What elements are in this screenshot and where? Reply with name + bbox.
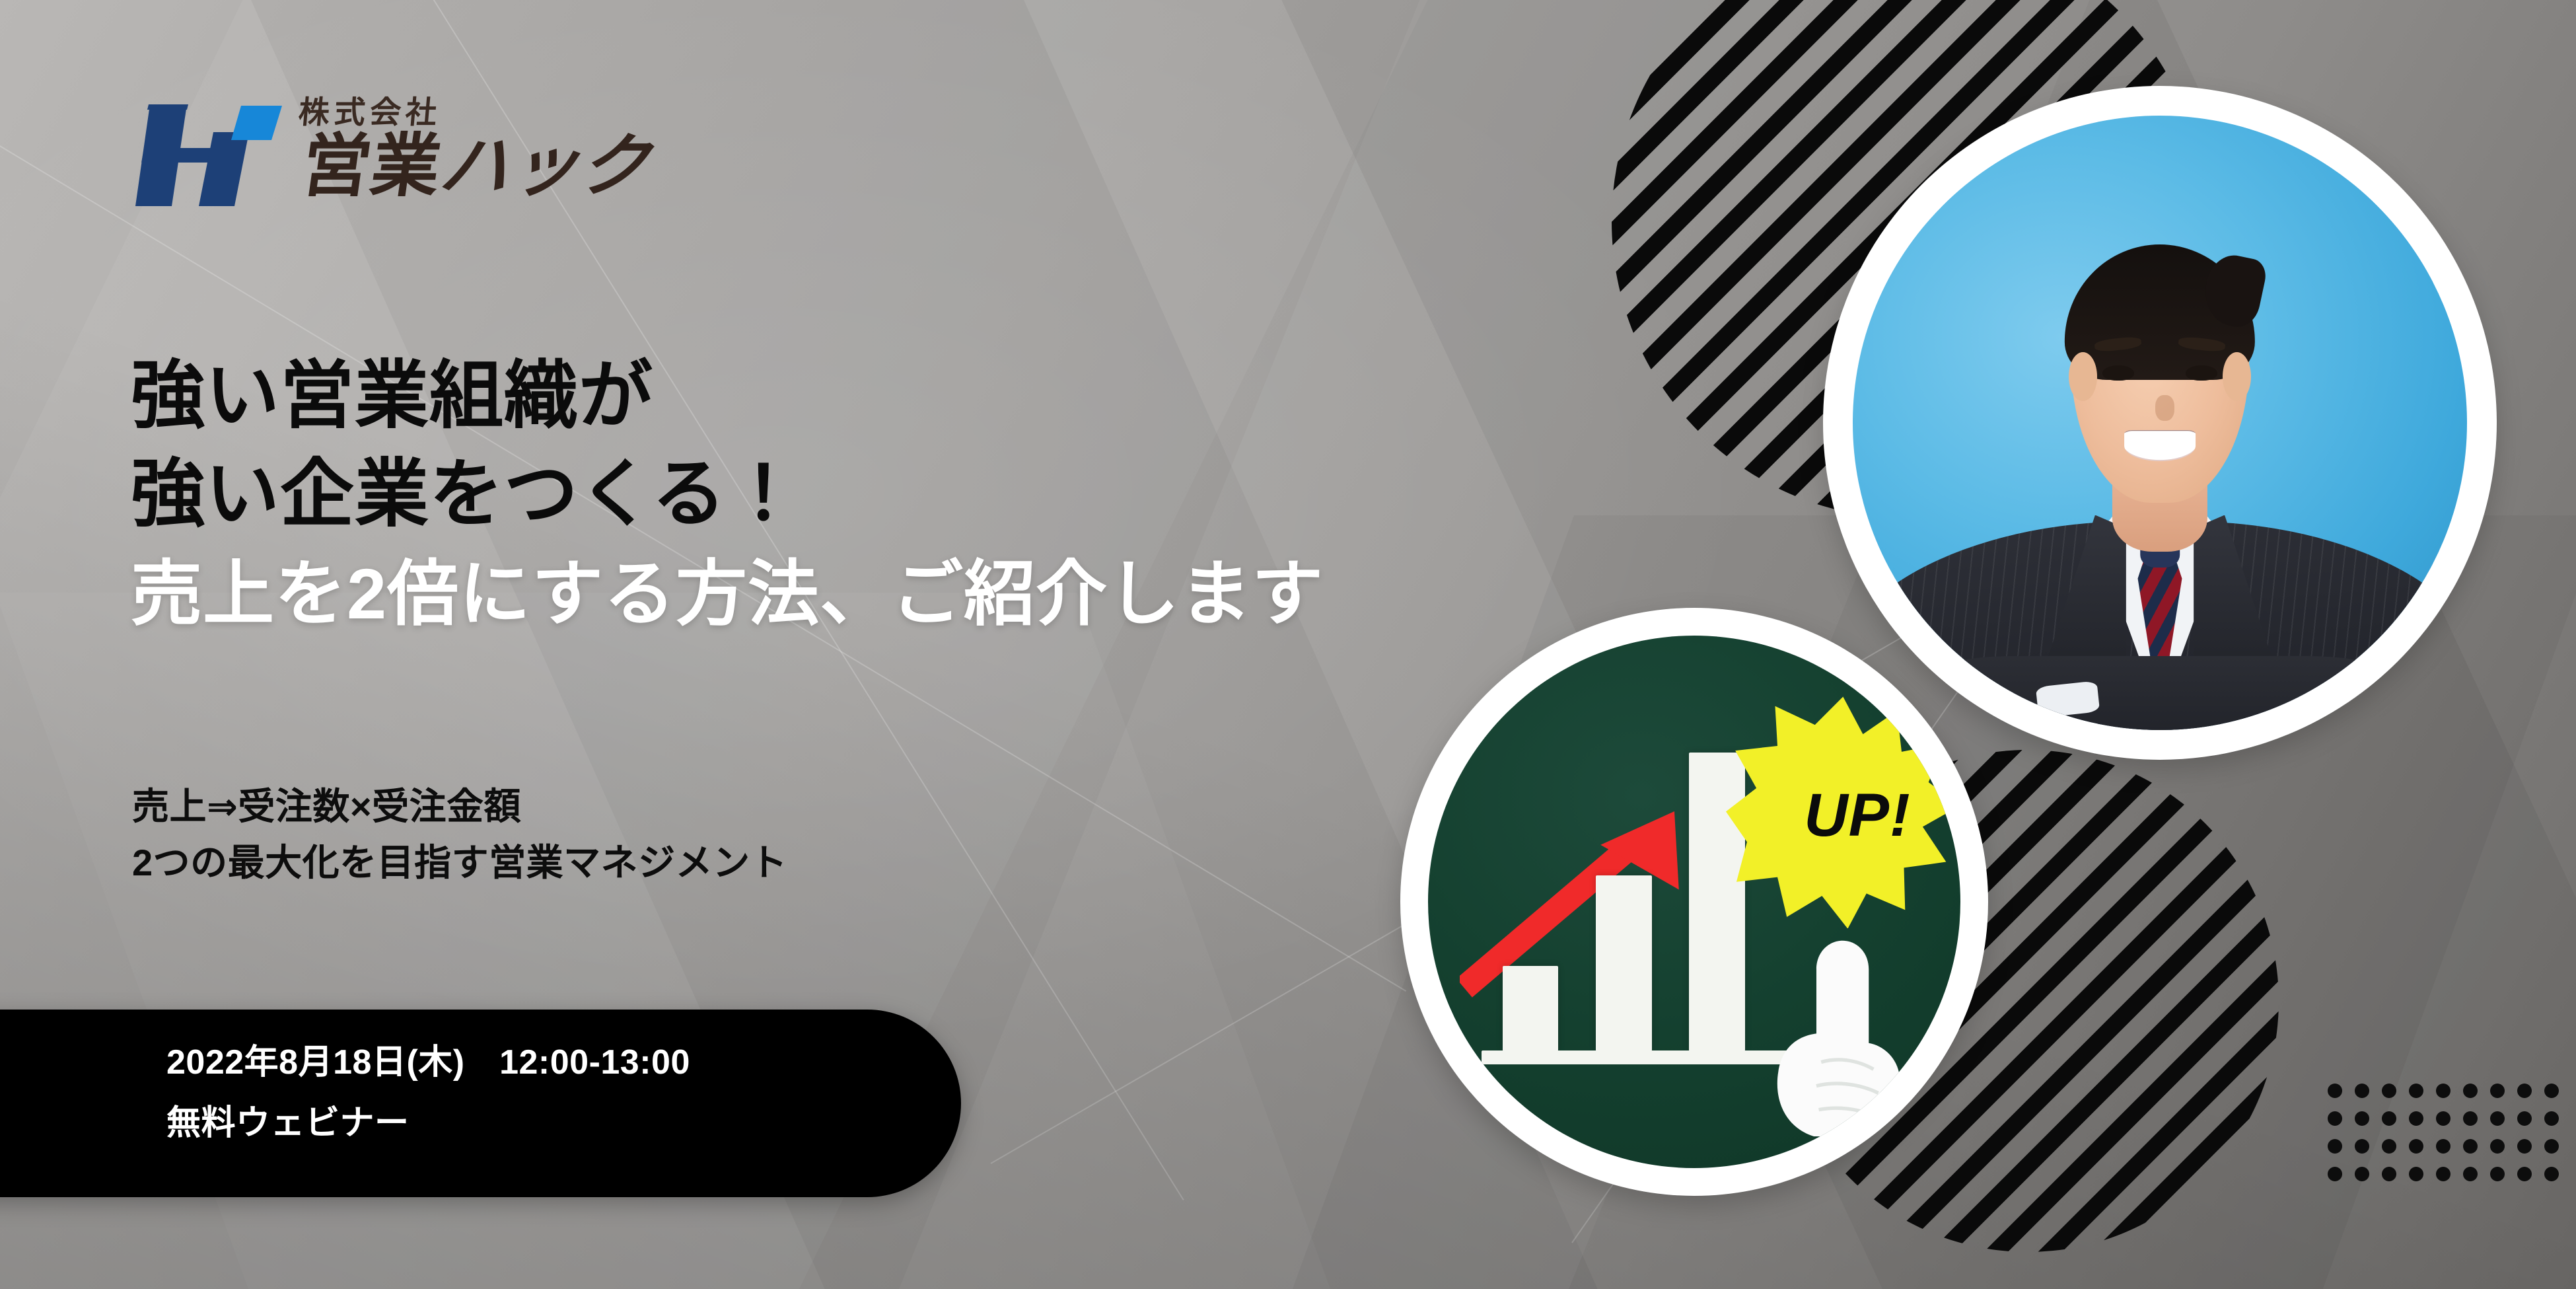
ear-left	[2069, 352, 2097, 401]
subcopy-block: 売上⇒受注数×受注金額 2つの最大化を目指す営業マネジメント	[132, 778, 1123, 891]
pointing-hand-icon	[1764, 934, 1908, 1136]
headline-line-3: 売上を2倍にする方法、ご紹介します	[131, 546, 1551, 642]
company-name-kanji: 営業	[297, 128, 446, 205]
speaker-figure	[1853, 116, 2467, 730]
chart-bar	[1503, 966, 1559, 1051]
headline-line-1: 強い営業組織が	[131, 347, 1551, 445]
subcopy-line-1: 売上⇒受注数×受注金額	[132, 778, 1123, 834]
speaker-photo	[1853, 116, 2467, 730]
company-prefix: 株式会社	[297, 96, 723, 128]
smile	[2124, 430, 2196, 461]
up-badge-label: UP!	[1740, 699, 1960, 934]
company-name: 営業ハック	[297, 131, 730, 202]
folded-arms	[1933, 656, 2387, 730]
h-mark-icon	[135, 99, 287, 211]
schedule-pill: 2022年8月18日(木) 12:00-13:00 無料ウェビナー	[0, 1010, 961, 1197]
nose	[2155, 395, 2175, 421]
chart-bar	[1596, 875, 1652, 1051]
schedule-type: 無料ウェビナー	[166, 1106, 690, 1140]
chart-baseline	[1482, 1050, 1790, 1064]
eye-right	[2186, 365, 2217, 381]
headline-line-2: 強い企業をつくる！	[131, 445, 1551, 544]
schedule-text-group: 2022年8月18日(木) 12:00-13:00 無料ウェビナー	[166, 1045, 690, 1140]
schedule-datetime: 2022年8月18日(木) 12:00-13:00	[166, 1045, 690, 1080]
subcopy-line-2: 2つの最大化を目指す営業マネジメント	[132, 834, 1123, 891]
headline-block: 強い営業組織が 強い企業をつくる！ 売上を2倍にする方法、ご紹介します	[131, 347, 1551, 642]
eye-left	[2102, 365, 2134, 381]
speaker-photo-circle	[1823, 86, 2497, 760]
brand-logo[interactable]: 株式会社 営業ハック	[135, 99, 717, 211]
ear-right	[2223, 352, 2251, 401]
company-name-kana: ハック	[435, 128, 654, 205]
brand-wordmark: 株式会社 営業ハック	[297, 96, 720, 202]
webinar-banner: 株式会社 営業ハック 強い営業組織が 強い企業をつくる！ 売上を2倍にする方法、…	[0, 0, 2576, 1289]
